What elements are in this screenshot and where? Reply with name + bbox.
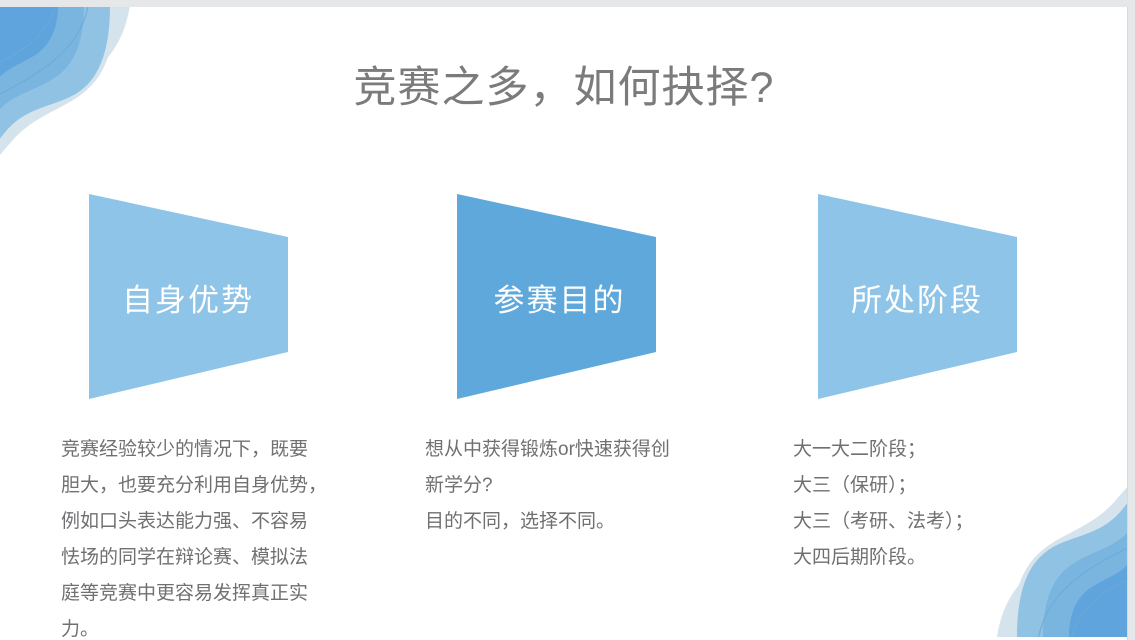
content-column-current-stage: 所处阶段 大一大二阶段； 大三（保研）； 大三（考研、法考）； 大四后期阶段。 [817,192,1077,402]
body-line: 大三（考研、法考）； [793,504,1073,540]
slide-canvas: 竞赛之多，如何抉择? 自身优势 竞赛经验较少的情况下，既要 胆大，也要充分利用自… [0,7,1128,640]
page-title: 竞赛之多，如何抉择? [0,63,1128,115]
body-line: 新学分? [425,468,710,504]
body-line: 竞赛经验较少的情况下，既要 [61,432,341,468]
trapezoid-current-stage: 所处阶段 [817,192,1027,402]
body-line: 大一大二阶段； [793,432,1073,468]
body-line: 胆大，也要充分利用自身优势， [61,468,341,504]
trapezoid-label-competition-purpose: 参赛目的 [456,192,663,402]
body-text-competition-purpose: 想从中获得锻炼or快速获得创 新学分? 目的不同，选择不同。 [425,432,710,540]
body-line: 大四后期阶段。 [793,540,1073,576]
content-column-competition-purpose: 参赛目的 想从中获得锻炼or快速获得创 新学分? 目的不同，选择不同。 [456,192,716,402]
body-line: 大三（保研）； [793,468,1073,504]
body-line: 想从中获得锻炼or快速获得创 [425,432,710,468]
trapezoid-label-current-stage: 所处阶段 [817,192,1017,402]
body-line: 怯场的同学在辩论赛、模拟法 [61,540,341,576]
body-line: 例如口头表达能力强、不容易 [61,504,341,540]
trapezoid-self-advantage: 自身优势 [88,192,298,402]
body-line: 目的不同，选择不同。 [425,504,710,540]
body-text-current-stage: 大一大二阶段； 大三（保研）； 大三（考研、法考）； 大四后期阶段。 [793,432,1073,576]
trapezoid-competition-purpose: 参赛目的 [456,192,666,402]
body-line: 庭等竞赛中更容易发挥真正实 [61,576,341,612]
body-line: 力。 [61,612,341,640]
content-column-self-advantage: 自身优势 竞赛经验较少的情况下，既要 胆大，也要充分利用自身优势， 例如口头表达… [88,192,348,402]
trapezoid-label-self-advantage: 自身优势 [88,192,288,402]
body-text-self-advantage: 竞赛经验较少的情况下，既要 胆大，也要充分利用自身优势， 例如口头表达能力强、不… [61,432,341,640]
